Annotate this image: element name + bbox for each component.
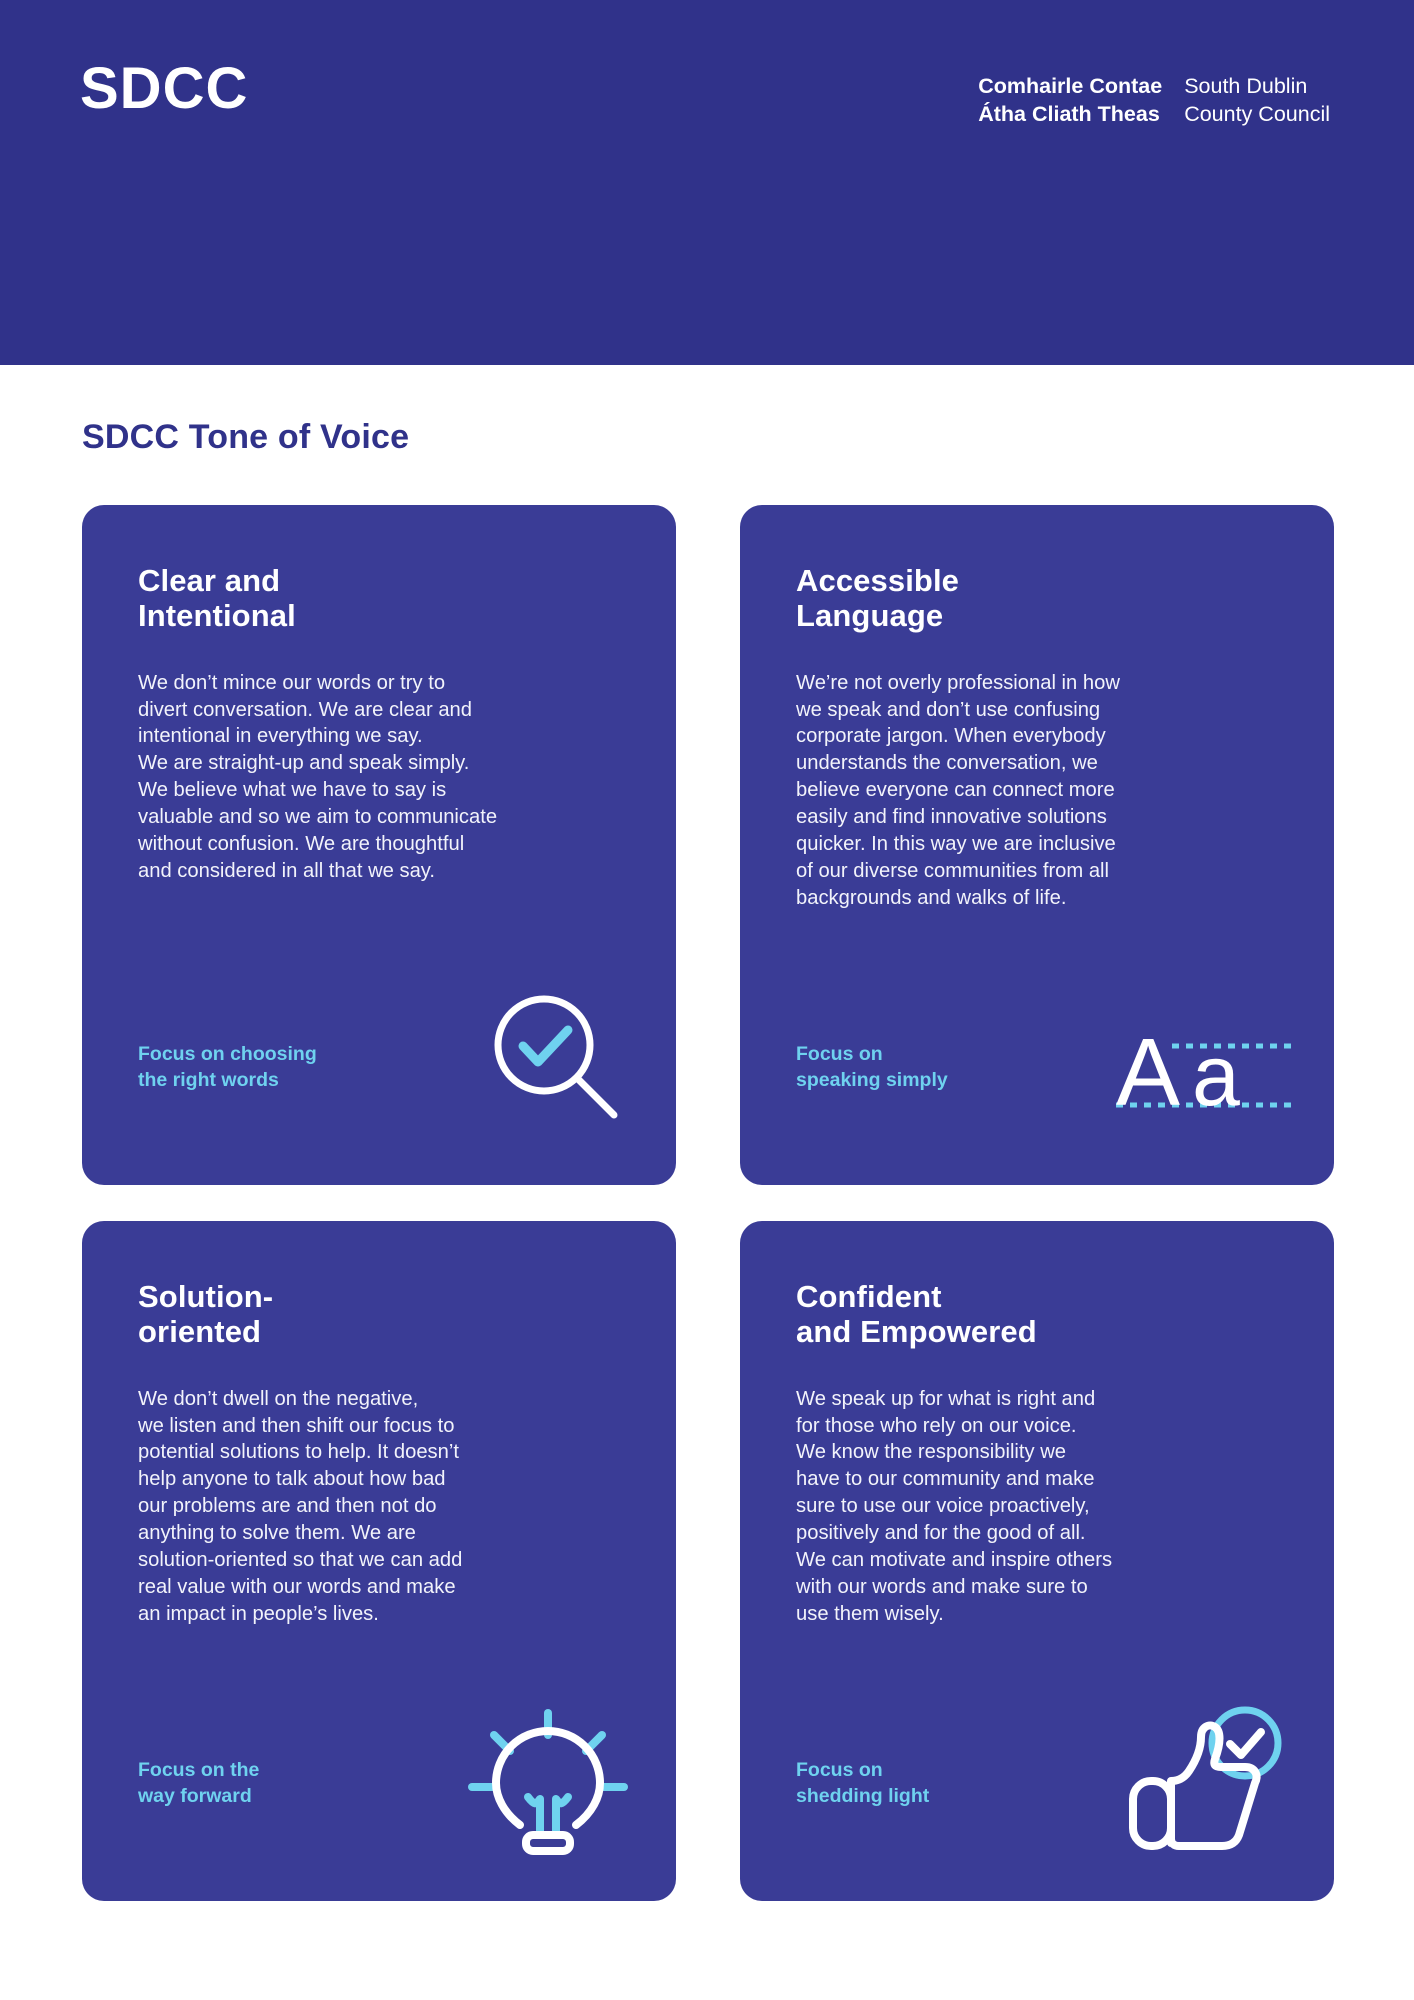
card-clear-and-intentional: Clear and Intentional We don’t mince our…	[82, 505, 676, 1185]
svg-text:A: A	[1116, 1019, 1180, 1123]
typography-aa-icon: A A a	[1114, 1013, 1294, 1123]
tone-of-voice-card-grid: Clear and Intentional We don’t mince our…	[82, 505, 1334, 1901]
page-root: SDCC Comhairle Contae Átha Cliath Theas …	[0, 0, 1414, 2000]
sdcc-logo: SDCC	[80, 60, 248, 118]
thumbs-up-check-icon	[1127, 1703, 1292, 1853]
card-accessible-language: Accessible Language We’re not overly pro…	[740, 505, 1334, 1185]
card-body: We don’t mince our words or try to diver…	[138, 670, 620, 885]
card-solution-oriented: Solution- oriented We don’t dwell on the…	[82, 1221, 676, 1901]
header-band: SDCC Comhairle Contae Átha Cliath Theas …	[0, 0, 1414, 365]
council-name-english: South Dublin County Council	[1184, 72, 1330, 129]
card-focus-text: Focus on speaking simply	[796, 1042, 948, 1093]
card-title: Solution- oriented	[138, 1279, 620, 1350]
svg-text:a: a	[1192, 1028, 1240, 1123]
card-title: Accessible Language	[796, 563, 1278, 634]
card-body: We speak up for what is right and for th…	[796, 1386, 1278, 1628]
council-name-irish: Comhairle Contae Átha Cliath Theas	[978, 72, 1162, 129]
card-focus-text: Focus on the way forward	[138, 1758, 259, 1809]
council-irish-line-1: Comhairle Contae	[978, 72, 1162, 100]
card-focus-text: Focus on shedding light	[796, 1758, 929, 1809]
card-title: Clear and Intentional	[138, 563, 620, 634]
council-irish-line-2: Átha Cliath Theas	[978, 100, 1162, 128]
card-body: We’re not overly professional in how we …	[796, 670, 1278, 912]
card-title: Confident and Empowered	[796, 1279, 1278, 1350]
card-confident-and-empowered: Confident and Empowered We speak up for …	[740, 1221, 1334, 1901]
magnifier-check-icon	[480, 983, 630, 1133]
council-lockup: Comhairle Contae Átha Cliath Theas South…	[978, 72, 1330, 129]
page-title: SDCC Tone of Voice	[82, 418, 409, 457]
council-english-line-1: South Dublin	[1184, 72, 1330, 100]
card-focus-text: Focus on choosing the right words	[138, 1042, 317, 1093]
lightbulb-icon	[468, 1709, 628, 1859]
council-english-line-2: County Council	[1184, 100, 1330, 128]
card-body: We don’t dwell on the negative, we liste…	[138, 1386, 620, 1628]
